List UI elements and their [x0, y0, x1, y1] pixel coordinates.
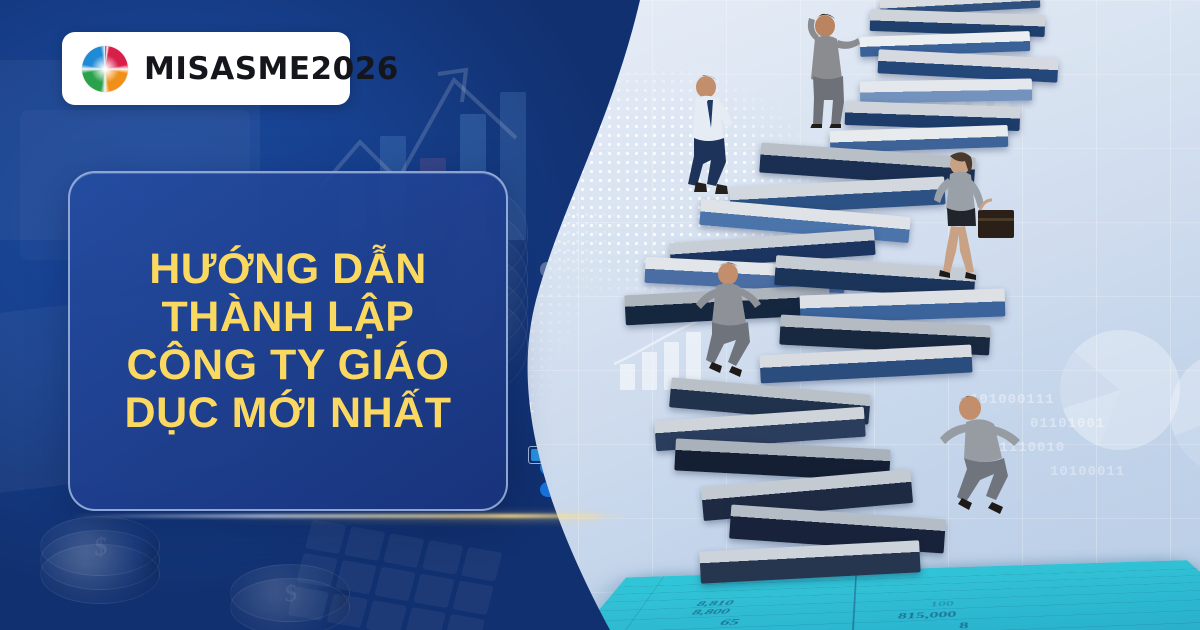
- banner-canvas: 10100011 01010 01101001 11110010 0101001…: [0, 0, 1200, 630]
- headline-line-1: HƯỚNG DẪN: [149, 245, 427, 293]
- keyboard-silhouette: [288, 519, 503, 630]
- ledger-number-right-1: 100: [930, 600, 955, 609]
- person-businessman-top-reaching: [785, 8, 875, 128]
- person-businesswoman-with-briefcase: [918, 148, 1028, 288]
- brand-logo-badge[interactable]: MISASME2026: [62, 32, 350, 105]
- glow-streak: [70, 514, 630, 518]
- person-businessman-walking-up: [666, 72, 756, 202]
- headline-line-4: DỤC MỚI NHẤT: [125, 389, 452, 437]
- headline-line-3: CÔNG TY GIÁO: [127, 341, 450, 389]
- ledger-number-left-2: 8,800: [690, 607, 731, 617]
- headline-line-2: THÀNH LẬP: [162, 293, 415, 341]
- person-businessman-running-low: [930, 384, 1070, 534]
- misa-circle-logo-icon: [82, 46, 128, 92]
- person-businessman-running-mid: [676, 258, 796, 398]
- headline-panel: HƯỚNG DẪN THÀNH LẬP CÔNG TY GIÁO DỤC MỚI…: [68, 171, 508, 511]
- ledger-number-right-3: 8: [958, 620, 971, 630]
- pie-chart-silhouette-1: [1060, 330, 1180, 450]
- book-step: [860, 79, 1032, 104]
- brand-name-label: MISASME2026: [144, 51, 399, 87]
